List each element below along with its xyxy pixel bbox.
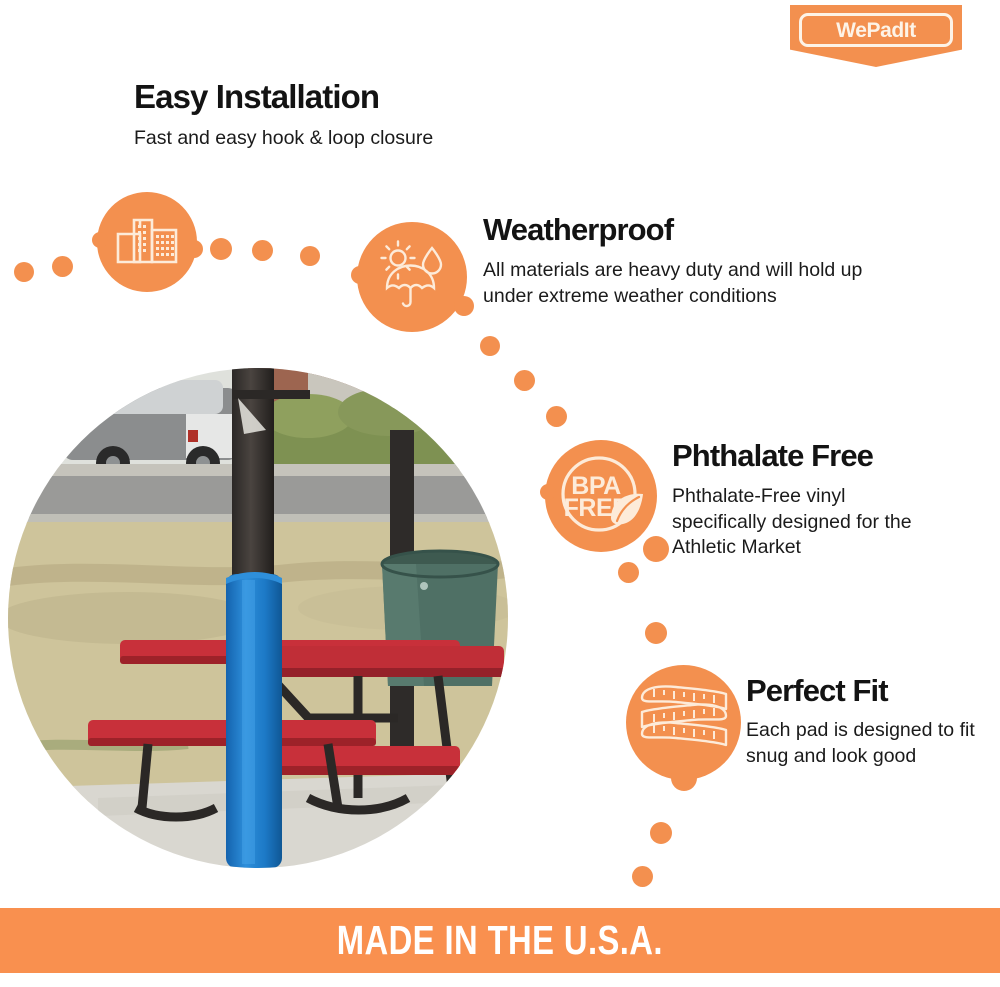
building-glyph [116, 216, 178, 268]
feature-subtitle-phthalate-free: Phthalate-Free vinyl specifically design… [672, 484, 942, 561]
logo-text: WePadIt [836, 20, 916, 41]
circle-nub [185, 240, 203, 258]
brand-logo[interactable]: WePadIt [790, 5, 962, 67]
trail-dot [546, 406, 567, 427]
trail-dot [650, 822, 672, 844]
umbrella-sun-raindrop-icon [357, 222, 467, 332]
trail-dot [14, 262, 34, 282]
trail-dot [300, 246, 320, 266]
tape-glyph [634, 676, 734, 770]
trail-dot [618, 562, 639, 583]
circle-nub [540, 484, 556, 500]
weather-glyph [375, 240, 449, 314]
bpa-free-leaf-icon: BPA FREE [545, 440, 657, 552]
building-installation-icon [97, 192, 197, 292]
park-pole-pad-photo [8, 368, 508, 868]
feature-subtitle-weatherproof: All materials are heavy duty and will ho… [483, 258, 903, 309]
trail-dot [210, 238, 232, 260]
circle-nub [671, 765, 697, 791]
product-feature-infographic: WePadIt Easy Installation Fast and easy … [0, 0, 1000, 987]
feature-subtitle-easy-installation: Fast and easy hook & loop closure [134, 126, 433, 152]
bpa-free-glyph: BPA FREE [549, 444, 653, 548]
product-photo [8, 368, 508, 868]
feature-title-weatherproof: Weatherproof [483, 214, 673, 247]
trail-dot [480, 336, 500, 356]
made-in-usa-banner: MADE IN THE U.S.A. [0, 908, 1000, 973]
circle-nub [454, 296, 474, 316]
feature-subtitle-perfect-fit: Each pad is designed to fit snug and loo… [746, 718, 976, 769]
circle-nub [92, 232, 108, 248]
feature-title-easy-installation: Easy Installation [134, 80, 379, 115]
feature-title-phthalate-free: Phthalate Free [672, 440, 873, 473]
made-in-usa-text: MADE IN THE U.S.A. [337, 917, 663, 964]
trail-dot [645, 622, 667, 644]
circle-nub [643, 536, 669, 562]
measuring-tape-icon [626, 665, 741, 780]
trail-dot [252, 240, 273, 261]
feature-title-perfect-fit: Perfect Fit [746, 675, 888, 708]
trail-dot [52, 256, 73, 277]
trail-dot [632, 866, 653, 887]
trail-dot [514, 370, 535, 391]
logo-border: WePadIt [799, 13, 953, 47]
circle-nub [351, 266, 369, 284]
